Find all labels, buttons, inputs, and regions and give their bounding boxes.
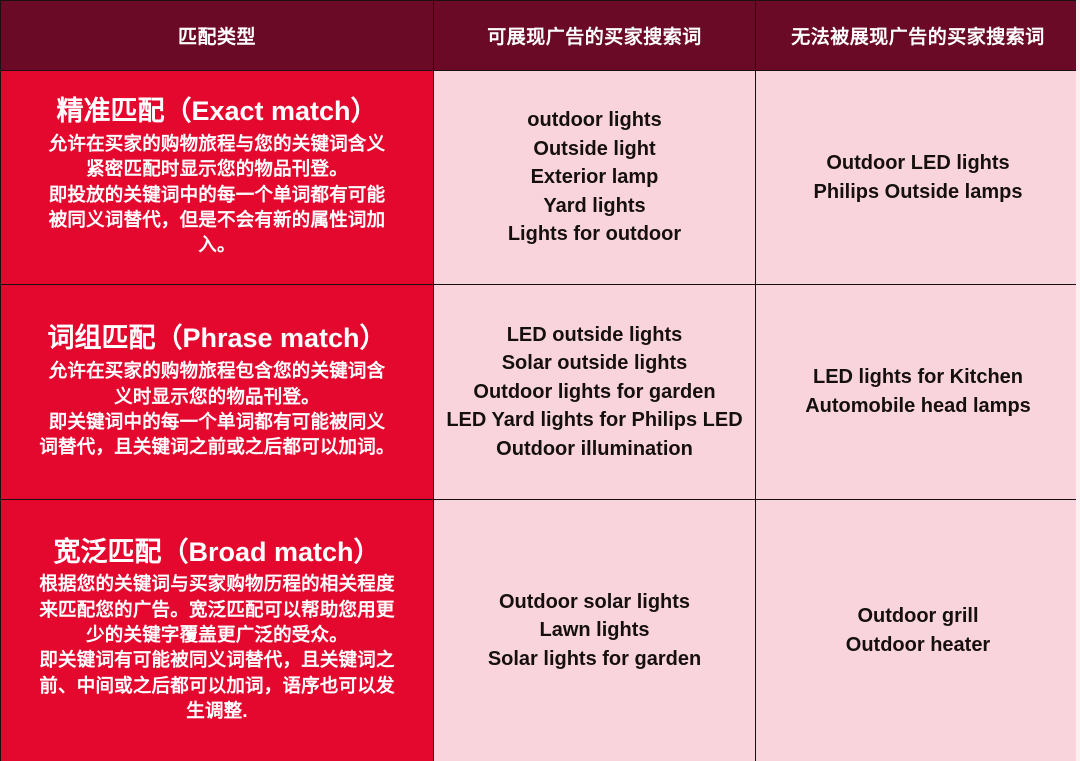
search-term: Lawn lights (440, 616, 749, 645)
description-line: 来匹配您的广告。宽泛匹配可以帮助您用更 (7, 597, 427, 622)
search-term: outdoor lights (440, 106, 749, 135)
description-line: 词替代，且关键词之前或之后都可以加词。 (7, 434, 427, 459)
description-line: 入。 (7, 232, 427, 257)
match-type-title: 精准匹配（Exact match） (7, 95, 427, 128)
table-body: 精准匹配（Exact match） 允许在买家的购物旅程与您的关键词含义 紧密匹… (1, 71, 1080, 761)
search-term: Automobile head lamps (762, 392, 1074, 421)
non-matching-terms-cell-broad: Outdoor grill Outdoor heater (756, 500, 1080, 761)
search-term: Outdoor solar lights (440, 588, 749, 617)
description-line: 根据您的关键词与买家购物历程的相关程度 (7, 571, 427, 596)
search-term: Outdoor LED lights (762, 149, 1074, 178)
description-line: 少的关键字覆盖更广泛的受众。 (7, 622, 427, 647)
table-row: 词组匹配（Phrase match） 允许在买家的购物旅程包含您的关键词含 义时… (1, 285, 1080, 500)
description-line: 生调整. (7, 698, 427, 723)
search-term: Outdoor lights for garden (440, 378, 749, 407)
description-line: 前、中间或之后都可以加词，语序也可以发 (7, 673, 427, 698)
table-header: 匹配类型 可展现广告的买家搜索词 无法被展现广告的买家搜索词 (1, 1, 1080, 71)
description-line: 即关键词有可能被同义词替代，且关键词之 (7, 647, 427, 672)
non-matching-terms-cell-exact: Outdoor LED lights Philips Outside lamps (756, 71, 1080, 285)
description-line: 允许在买家的购物旅程与您的关键词含义 (7, 131, 427, 156)
table-row: 宽泛匹配（Broad match） 根据您的关键词与买家购物历程的相关程度 来匹… (1, 500, 1080, 761)
matching-terms-cell-broad: Outdoor solar lights Lawn lights Solar l… (434, 500, 756, 761)
non-matching-terms-cell-phrase: LED lights for Kitchen Automobile head l… (756, 285, 1080, 500)
match-type-table: 匹配类型 可展现广告的买家搜索词 无法被展现广告的买家搜索词 精准匹配（Exac… (0, 0, 1080, 761)
description-line: 即关键词中的每一个单词都有可能被同义 (7, 409, 427, 434)
match-type-title: 词组匹配（Phrase match） (7, 322, 427, 355)
search-term: Outdoor heater (762, 631, 1074, 660)
description-line: 即投放的关键词中的每一个单词都有可能 (7, 182, 427, 207)
matching-terms-cell-exact: outdoor lights Outside light Exterior la… (434, 71, 756, 285)
header-row: 匹配类型 可展现广告的买家搜索词 无法被展现广告的买家搜索词 (1, 1, 1080, 71)
match-type-description: 根据您的关键词与买家购物历程的相关程度 来匹配您的广告。宽泛匹配可以帮助您用更 … (7, 571, 427, 723)
search-term: Exterior lamp (440, 163, 749, 192)
search-term: Lights for outdoor (440, 220, 749, 249)
match-type-cell-phrase: 词组匹配（Phrase match） 允许在买家的购物旅程包含您的关键词含 义时… (1, 285, 434, 500)
match-type-description: 允许在买家的购物旅程包含您的关键词含 义时显示您的物品刊登。 即关键词中的每一个… (7, 358, 427, 459)
search-term: LED Yard lights for Philips LED Outdoor … (440, 406, 749, 463)
header-match-type: 匹配类型 (1, 1, 434, 71)
search-term: Solar outside lights (440, 349, 749, 378)
search-term: LED outside lights (440, 321, 749, 350)
description-line: 被同义词替代，但是不会有新的属性词加 (7, 207, 427, 232)
search-term: LED lights for Kitchen (762, 363, 1074, 392)
match-type-title: 宽泛匹配（Broad match） (7, 536, 427, 569)
description-line: 允许在买家的购物旅程包含您的关键词含 (7, 358, 427, 383)
header-matching-search-terms: 可展现广告的买家搜索词 (434, 1, 756, 71)
search-term: Solar lights for garden (440, 645, 749, 674)
search-term: Outdoor grill (762, 602, 1074, 631)
matching-terms-cell-phrase: LED outside lights Solar outside lights … (434, 285, 756, 500)
page-wrapper: 匹配类型 可展现广告的买家搜索词 无法被展现广告的买家搜索词 精准匹配（Exac… (0, 0, 1080, 761)
match-type-description: 允许在买家的购物旅程与您的关键词含义 紧密匹配时显示您的物品刊登。 即投放的关键… (7, 131, 427, 258)
match-type-cell-exact: 精准匹配（Exact match） 允许在买家的购物旅程与您的关键词含义 紧密匹… (1, 71, 434, 285)
description-line: 义时显示您的物品刊登。 (7, 384, 427, 409)
table-row: 精准匹配（Exact match） 允许在买家的购物旅程与您的关键词含义 紧密匹… (1, 71, 1080, 285)
description-line: 紧密匹配时显示您的物品刊登。 (7, 156, 427, 181)
header-non-matching-search-terms: 无法被展现广告的买家搜索词 (756, 1, 1080, 71)
search-term: Philips Outside lamps (762, 178, 1074, 207)
search-term: Yard lights (440, 192, 749, 221)
match-type-cell-broad: 宽泛匹配（Broad match） 根据您的关键词与买家购物历程的相关程度 来匹… (1, 500, 434, 761)
search-term: Outside light (440, 135, 749, 164)
